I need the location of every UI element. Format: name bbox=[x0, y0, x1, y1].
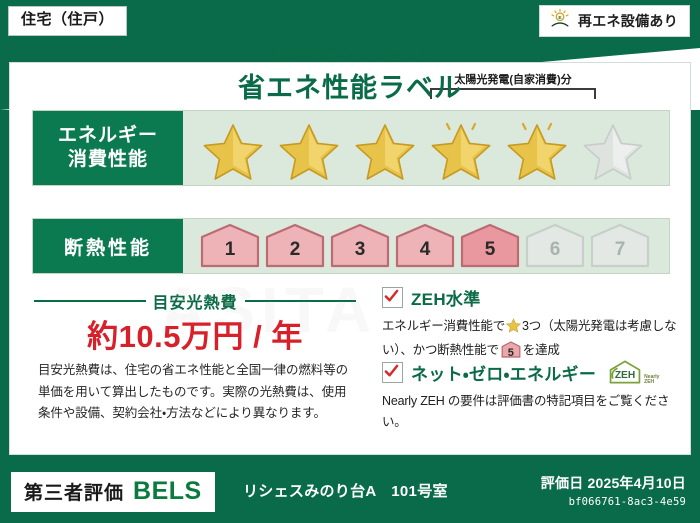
title-subtitle: 建築物省エネ法に基づく bbox=[0, 44, 700, 64]
energy-label-line-2: 消費性能 bbox=[68, 148, 148, 172]
insulation-level-off: 7 bbox=[589, 223, 651, 269]
net-zero-energy-title: ネット・ゼロ・エネルギー bbox=[411, 360, 596, 385]
insulation-level-on: 5 bbox=[459, 223, 521, 269]
energy-star-rating bbox=[183, 114, 649, 182]
zeh-body-pre: エネルギー消費性能で bbox=[382, 319, 505, 333]
label-title-block: 建築物省エネ法に基づく 省エネ性能ラベル bbox=[0, 44, 700, 105]
star-filled bbox=[425, 114, 497, 182]
insulation-level-scale: 1 2 3 4 5 6 7 bbox=[183, 223, 651, 269]
evaluation-date: 評価日 2025年4月10日 bbox=[541, 473, 686, 493]
utility-cost-heading-text: 目安光熱費 bbox=[153, 289, 238, 313]
category-tag: 住宅（住戸） bbox=[8, 6, 127, 36]
heading-rule-right bbox=[245, 300, 357, 302]
insulation-level-off: 6 bbox=[524, 223, 586, 269]
insulation-level-on: 4 bbox=[394, 223, 456, 269]
insulation-level-on: 2 bbox=[264, 223, 326, 269]
utility-cost-value: 約10.5万円 / 年 bbox=[34, 311, 356, 356]
insulation-level-number: 6 bbox=[524, 239, 586, 261]
utility-cost-description: 目安光熱費は、住宅の省エネ性能と全国一律の燃料等の単価を用いて算出したものです。… bbox=[38, 360, 356, 425]
zeh-body-post: を達成 bbox=[523, 343, 560, 357]
inline-star-icon bbox=[506, 318, 521, 340]
inline-insulation-badge: 5 bbox=[501, 341, 521, 358]
zeh-standard-claim: ZEH水準 エネルギー消費性能で3つ（太陽光発電は考慮しない）、かつ断熱性能で5… bbox=[382, 285, 682, 361]
svg-text:ZEH: ZEH bbox=[615, 370, 635, 381]
renewable-energy-badge: E 再エネ設備あり bbox=[539, 5, 690, 37]
zeh-standard-title: ZEH水準 bbox=[411, 285, 481, 310]
insulation-level-number: 7 bbox=[589, 239, 651, 261]
bels-prefix: 第三者評価 bbox=[24, 478, 124, 505]
energy-performance-row: エネルギー 消費性能 bbox=[32, 110, 670, 186]
label-footer: 第三者評価 BELS リシェスみのり台A 101号室 評価日 2025年4月10… bbox=[0, 461, 700, 523]
net-zero-energy-body: Nearly ZEH の要件は評価書の特記項目をご覧ください。 bbox=[382, 391, 682, 433]
insulation-level-on: 1 bbox=[199, 223, 261, 269]
net-zero-energy-claim: ネット・ゼロ・エネルギー ZEH Nearly ZEH Nearly ZE bbox=[382, 359, 682, 433]
insulation-level-on: 3 bbox=[329, 223, 391, 269]
star-filled bbox=[197, 114, 269, 182]
sun-icon: E bbox=[549, 8, 571, 35]
insulation-level-number: 3 bbox=[329, 239, 391, 261]
energy-label-root: 住宅（住戸） E 再エネ設備あり 建築物省エネ法に基づく 省エネ性能ラベル bbox=[0, 0, 700, 523]
star-filled bbox=[501, 114, 573, 182]
zeh-standard-body: エネルギー消費性能で3つ（太陽光発電は考慮しない）、かつ断熱性能で5を達成 bbox=[382, 316, 682, 361]
renewable-badge-label: 再エネ設備あり bbox=[578, 11, 678, 31]
energy-performance-label: エネルギー 消費性能 bbox=[33, 111, 183, 185]
building-name: リシェスみのり台A 101号室 bbox=[243, 480, 448, 501]
star-filled bbox=[273, 114, 345, 182]
heading-rule-left bbox=[34, 300, 146, 302]
insulation-level-number: 5 bbox=[459, 239, 521, 261]
insulation-performance-row: 断熱性能 1 2 3 4 5 6 7 bbox=[32, 218, 670, 274]
insulation-level-number: 1 bbox=[199, 239, 261, 261]
title-main: 省エネ性能ラベル bbox=[0, 66, 700, 105]
insulation-level-number: 2 bbox=[264, 239, 326, 261]
bels-name: BELS bbox=[133, 477, 202, 506]
star-empty bbox=[577, 114, 649, 182]
evaluation-info: 評価日 2025年4月10日 bf066761-8ac3-4e59 bbox=[541, 473, 686, 508]
zeh-logo-caption-2: ZEH bbox=[644, 379, 654, 385]
bels-certification-box: 第三者評価 BELS bbox=[11, 472, 215, 512]
evaluation-id: bf066761-8ac3-4e59 bbox=[541, 496, 686, 508]
utility-cost-heading: 目安光熱費 bbox=[34, 289, 356, 313]
insulation-level-number: 4 bbox=[394, 239, 456, 261]
insulation-performance-label: 断熱性能 bbox=[33, 219, 183, 273]
net-zero-energy-checkbox[interactable] bbox=[382, 362, 403, 383]
star-filled bbox=[349, 114, 421, 182]
energy-label-line-1: エネルギー bbox=[58, 124, 158, 148]
zeh-logo: ZEH Nearly ZEH bbox=[608, 359, 659, 385]
zeh-standard-checkbox[interactable] bbox=[382, 287, 403, 308]
label-body-card: エネルギー 消費性能 bbox=[9, 62, 691, 455]
